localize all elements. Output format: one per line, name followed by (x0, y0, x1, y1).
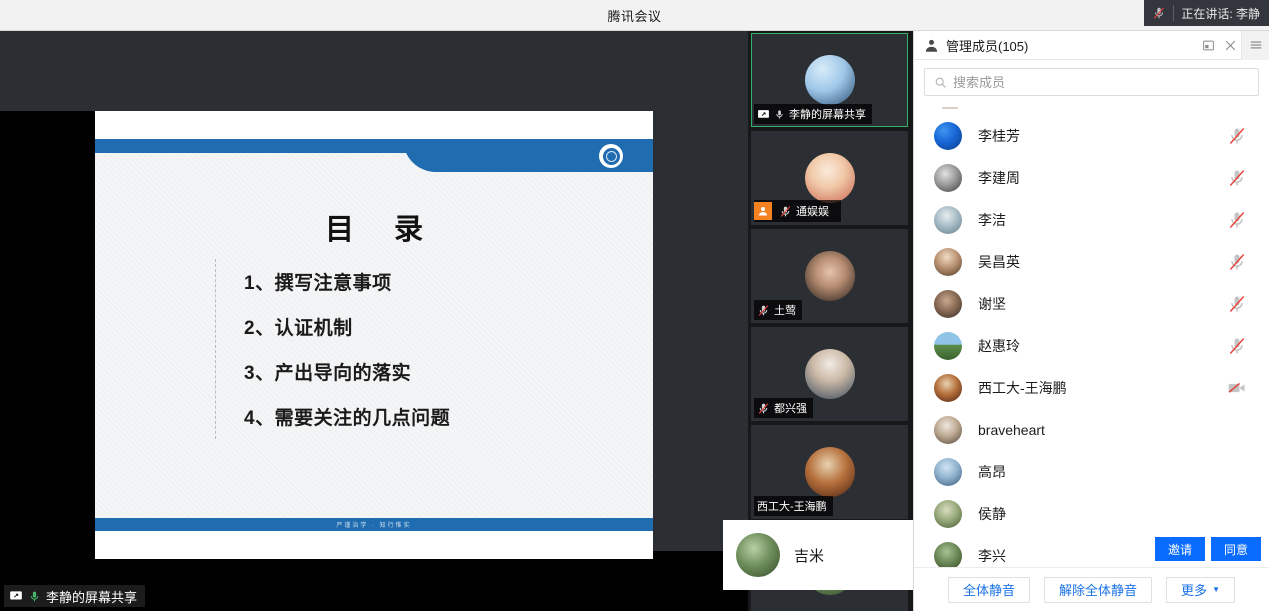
participant-name: 通娱娱 (796, 203, 835, 219)
avatar (805, 55, 855, 105)
mic-icon (774, 109, 785, 120)
participant-name: 吴昌英 (978, 252, 1211, 272)
participant-name: 李桂芳 (978, 126, 1211, 146)
mic-muted-icon[interactable] (1227, 336, 1247, 356)
avatar (934, 206, 962, 234)
video-tile-label: 都兴强 (754, 398, 813, 418)
participants-list[interactable]: 李桂芳 李建周 (914, 101, 1269, 567)
mic-icon (28, 590, 41, 603)
panel-header: 管理成员(105) (914, 31, 1269, 60)
participant-name: 西工大-王海鹏 (757, 498, 827, 514)
mic-muted-icon[interactable] (1227, 294, 1247, 314)
stage-letterbox-top (0, 31, 748, 111)
panel-title-group: 管理成员(105) (914, 36, 1197, 55)
row-hover-actions[interactable]: 邀请 同意 (1155, 537, 1261, 561)
list-item[interactable]: 吴昌英 (914, 241, 1269, 283)
participant-name: braveheart (978, 422, 1211, 438)
avatar (934, 290, 962, 318)
video-off-icon[interactable] (1227, 378, 1247, 398)
slide-agenda-item: 3、产出导向的落实 (216, 349, 635, 394)
avatar (934, 122, 962, 150)
shared-screen-stage[interactable]: 目 录 1、撰写注意事项 2、认证机制 3、产出导向的落实 4、需要关注的几点问… (0, 31, 748, 611)
list-item[interactable]: 西工大-王海鹏 (914, 367, 1269, 409)
state-placeholder (1227, 462, 1247, 482)
avatar (934, 500, 962, 528)
video-tile[interactable]: 通娱娱 (751, 131, 908, 225)
mic-muted-icon[interactable] (1227, 252, 1247, 272)
avatar (934, 542, 962, 567)
video-tile-label: 李静的屏幕共享 (754, 104, 872, 124)
list-item[interactable]: braveheart (914, 409, 1269, 451)
state-placeholder (1227, 504, 1247, 524)
list-item[interactable]: 李洁 (914, 199, 1269, 241)
invite-button[interactable]: 邀请 (1155, 537, 1205, 561)
avatar (934, 374, 962, 402)
participant-name: 西工大-王海鹏 (978, 378, 1211, 398)
list-item[interactable]: 侯静 (914, 493, 1269, 535)
share-banner-label: 李静的屏幕共享 (46, 587, 137, 606)
more-label: 更多 (1181, 580, 1207, 599)
participant-name: 高昂 (978, 462, 1211, 482)
screen-share-icon (9, 589, 23, 603)
participants-panel: 管理成员(105) (913, 31, 1269, 611)
approve-button[interactable]: 同意 (1211, 537, 1261, 561)
avatar (934, 458, 962, 486)
participant-hover-card: 吉米 (723, 520, 913, 590)
stage-letterbox-left (0, 111, 95, 551)
video-tile[interactable]: 李静的屏幕共享 (751, 33, 908, 127)
mic-muted-icon[interactable] (1227, 210, 1247, 230)
mic-muted-icon[interactable] (1227, 168, 1247, 188)
avatar (934, 416, 962, 444)
avatar (934, 332, 962, 360)
video-tile-label: 西工大-王海鹏 (754, 496, 833, 516)
presentation-slide: 目 录 1、撰写注意事项 2、认证机制 3、产出导向的落实 4、需要关注的几点问… (95, 111, 653, 559)
mute-all-label: 全体静音 (963, 580, 1015, 599)
video-tile-label: 通娱娱 (754, 200, 841, 222)
avatar (934, 248, 962, 276)
university-seal-icon (599, 144, 623, 168)
panel-title: 管理成员(105) (946, 36, 1028, 55)
participant-name: 土莺 (774, 302, 796, 318)
stage-letterbox-right (653, 111, 748, 551)
mic-muted-icon (1152, 6, 1166, 20)
slide-agenda-item: 4、需要关注的几点问题 (216, 394, 635, 439)
slide-agenda-item: 2、认证机制 (216, 304, 635, 349)
participant-name: 李建周 (978, 168, 1211, 188)
window-title: 腾讯会议 (607, 6, 661, 25)
video-tile[interactable]: 都兴强 (751, 327, 908, 421)
more-button[interactable]: 更多 ▼ (1166, 577, 1235, 603)
mic-muted-icon[interactable] (1227, 126, 1247, 146)
video-tile[interactable]: 土莺 (751, 229, 908, 323)
search-container (914, 60, 1269, 101)
list-item[interactable]: 李桂芳 (914, 115, 1269, 157)
avatar (805, 349, 855, 399)
list-item[interactable]: 李建周 (914, 157, 1269, 199)
search-box[interactable] (924, 68, 1259, 96)
avatar (805, 251, 855, 301)
slide-footer-text: 严谨治学 · 知行惟实 (336, 520, 411, 529)
mic-muted-icon (776, 205, 792, 218)
slide-footer-band: 严谨治学 · 知行惟实 (95, 518, 653, 531)
close-icon[interactable] (1219, 31, 1241, 59)
scroll-indicator (914, 101, 1269, 115)
hamburger-menu-icon[interactable] (1241, 31, 1269, 60)
video-tile[interactable]: 西工大-王海鹏 (751, 425, 908, 519)
avatar (934, 164, 962, 192)
host-badge-icon (754, 202, 772, 220)
avatar (805, 153, 855, 203)
search-input[interactable] (953, 75, 1249, 90)
list-item[interactable]: 赵惠玲 (914, 325, 1269, 367)
slide-agenda-item: 1、撰写注意事项 (216, 259, 635, 304)
slide-title: 目 录 (95, 206, 653, 248)
avatar (736, 533, 780, 577)
unmute-all-label: 解除全体静音 (1059, 580, 1137, 599)
hover-card-name: 吉米 (794, 545, 824, 566)
participant-name: 李洁 (978, 210, 1211, 230)
speaking-indicator: 正在讲话: 李静 (1144, 0, 1269, 26)
participant-name: 都兴强 (774, 400, 807, 416)
screen-share-banner: 李静的屏幕共享 (4, 585, 145, 607)
participant-name: 赵惠玲 (978, 336, 1211, 356)
list-item[interactable]: 谢坚 (914, 283, 1269, 325)
popout-icon[interactable] (1197, 31, 1219, 59)
participant-name: 谢坚 (978, 294, 1211, 314)
person-icon (924, 38, 939, 53)
divider (1173, 5, 1174, 21)
list-item[interactable]: 高昂 (914, 451, 1269, 493)
title-bar: 腾讯会议 (0, 0, 1269, 31)
meeting-window: 腾讯会议 正在讲话: 李静 目 录 1、 (0, 0, 1269, 611)
search-icon (934, 76, 947, 89)
screen-share-icon (757, 108, 770, 121)
video-tile-label: 土莺 (754, 300, 802, 320)
mute-all-button[interactable]: 全体静音 (948, 577, 1030, 603)
mic-muted-icon (757, 402, 770, 415)
avatar (805, 447, 855, 497)
unmute-all-button[interactable]: 解除全体静音 (1044, 577, 1152, 603)
slide-agenda-list: 1、撰写注意事项 2、认证机制 3、产出导向的落实 4、需要关注的几点问题 (215, 259, 635, 439)
state-placeholder (1227, 420, 1247, 440)
mic-muted-icon (757, 304, 770, 317)
chevron-down-icon: ▼ (1212, 585, 1220, 594)
speaking-label: 正在讲话: 李静 (1181, 5, 1260, 22)
participant-name: 李静的屏幕共享 (789, 106, 866, 122)
participant-name: 侯静 (978, 504, 1211, 524)
panel-footer: 全体静音 解除全体静音 更多 ▼ (914, 567, 1269, 611)
